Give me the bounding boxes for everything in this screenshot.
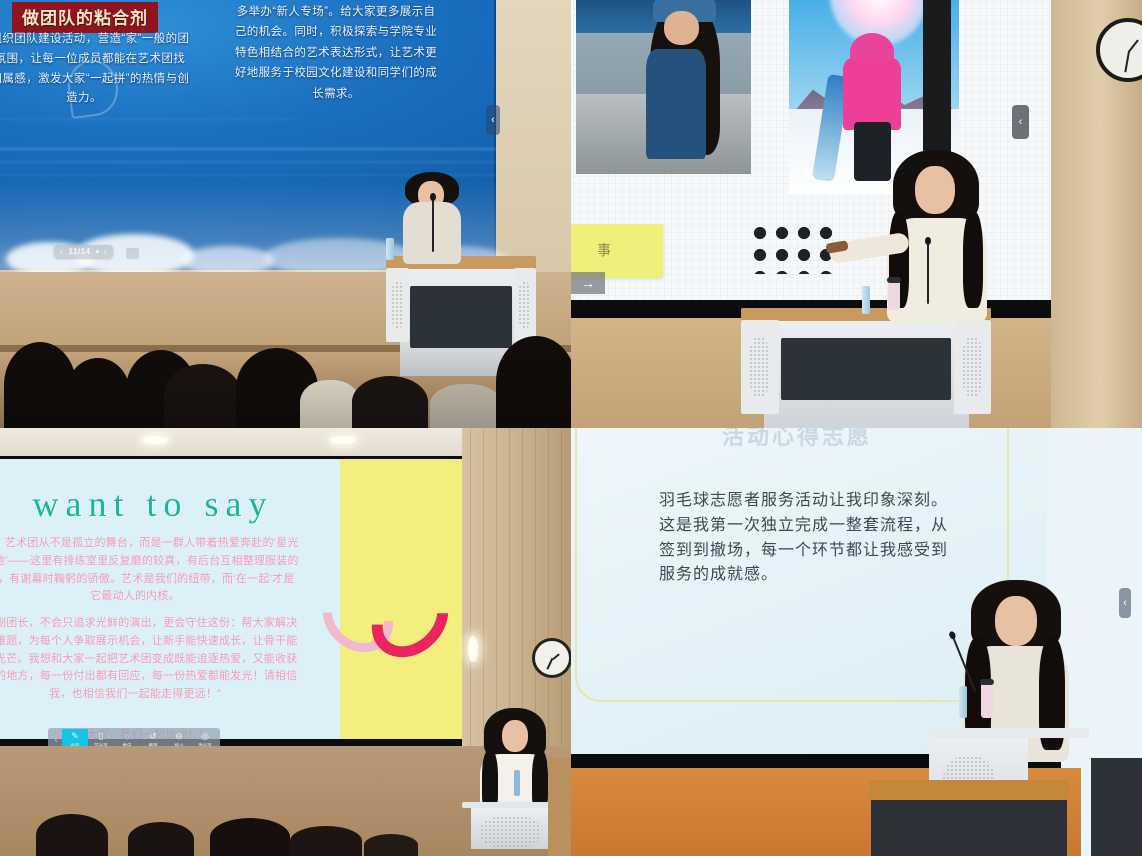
audience-head [364,834,418,856]
arrow-right-icon: → [581,275,595,291]
ceiling-light [330,436,356,444]
slide-dot-icon [96,250,99,253]
slide-heading-q3: want to say [0,483,318,525]
panel-top-left[interactable]: 做团队的粘合剂 期组织团队建设活动，营造“家”一般的团内氛围，让每一位成员都能在… [0,0,571,428]
panel-bottom-left[interactable]: want to say 心里，艺术团从不是孤立的舞台，而是一群人带着热爱奔赴的‘… [0,428,571,856]
podium-q2 [741,308,991,428]
projection-screen-q3: want to say 心里，艺术团从不是孤立的舞台，而是一群人带着热爱奔赴的‘… [0,459,468,739]
dark-cabinet [1091,758,1142,856]
slide-dot-grid [749,222,835,274]
coffee-cup-q2 [888,282,900,310]
podium-top-surface-q4 [869,780,1069,802]
projection-screen-frame-q3: want to say 心里，艺术团从不是孤立的舞台，而是一群人带着热爱奔赴的‘… [0,456,476,746]
yellow-box-text-right: 事 [597,240,611,260]
coffee-cup-q4 [981,684,993,718]
slide-counter: 11/14 [69,247,91,256]
slide-paragraph-1: 心里，艺术团从不是孤立的舞台，而是一群人带着热爱奔赴的‘星光聚集地’——这里有排… [0,535,300,606]
chevron-left-icon: ‹ [1123,598,1127,609]
audience-head [210,818,290,856]
photo-grid: 做团队的粘合剂 期组织团队建设活动，营造“家”一般的团内氛围，让每一位成员都能在… [0,0,1142,856]
ceiling-light [142,436,168,444]
water-bottle-q1 [386,238,394,260]
microphone-q1 [432,198,434,252]
lanyard [514,770,520,796]
speaker-q2 [893,150,979,320]
target-icon: ◎ [201,731,209,742]
panel-top-right[interactable]: 的 事 → ‹ [571,0,1142,428]
eraser-icon: ◌ [124,732,129,742]
panel-side-chevron-q2[interactable]: ‹ [1012,105,1029,139]
prev-slide-icon[interactable]: ‹ [60,247,64,256]
slide-nav-extra-button[interactable] [126,248,139,259]
chevron-left-icon: ‹ [1019,117,1023,128]
panel-bottom-right[interactable]: 活动心得志愿 羽毛球志愿者服务活动让我印象深刻。这是我第一次独立完成一整套流程，… [571,428,1142,856]
panel-side-chevron-q4[interactable]: ‹ [1119,588,1131,618]
podium-panel-q4 [871,800,1067,856]
microphone-q2 [927,242,929,304]
wall-clock-q3 [532,638,571,678]
panel-side-chevron-q3[interactable]: ‹ [468,636,478,662]
slide-photo-2 [576,0,751,174]
slide-yellow-box: 的 事 [571,224,663,278]
audience-head [128,822,194,856]
undo-icon: ↺ [149,731,157,742]
slide-paragraph-2: 当选副团长，不会只追求光鲜的演出，更会守住这份：帮大家解决排练难题，为每个人争取… [0,615,300,704]
slide-body-q4: 羽毛球志愿者服务活动让我印象深刻。这是我第一次独立完成一整套流程，从签到到撤场，… [659,489,954,588]
podium-wood-q3 [548,758,571,856]
slide-text-left-q1: 期组织团队建设活动，营造“家”一般的团内氛围，让每一位成员都能在艺术团找到归属感… [0,30,190,109]
panel-side-chevron-q1[interactable]: ‹ [486,105,500,135]
pen-icon: ✎ [71,731,79,742]
water-bottle-q2 [862,286,870,314]
podium-q3 [462,802,562,856]
slide-nav-q1[interactable]: ‹ 11/14 › [54,245,113,258]
audience-head [36,814,108,856]
slide-headline-q1: 做团队的粘合剂 [12,2,158,33]
slide-text-right-q1: 多举办“新人专场”。给大家更多展示自己的机会。同时，积极探索与学院专业特色相结合… [232,2,440,104]
highlighter-icon: ▯ [99,731,104,742]
slide-title-q4: 活动心得志愿 [647,428,947,451]
audience-shading [0,344,571,428]
next-arrow-button-q2[interactable]: → [571,272,605,294]
minus-circle-icon: ⊖ [175,731,183,742]
next-slide-icon[interactable]: › [104,247,108,256]
audience-head [290,826,362,856]
water-bottle-q4 [959,686,967,718]
